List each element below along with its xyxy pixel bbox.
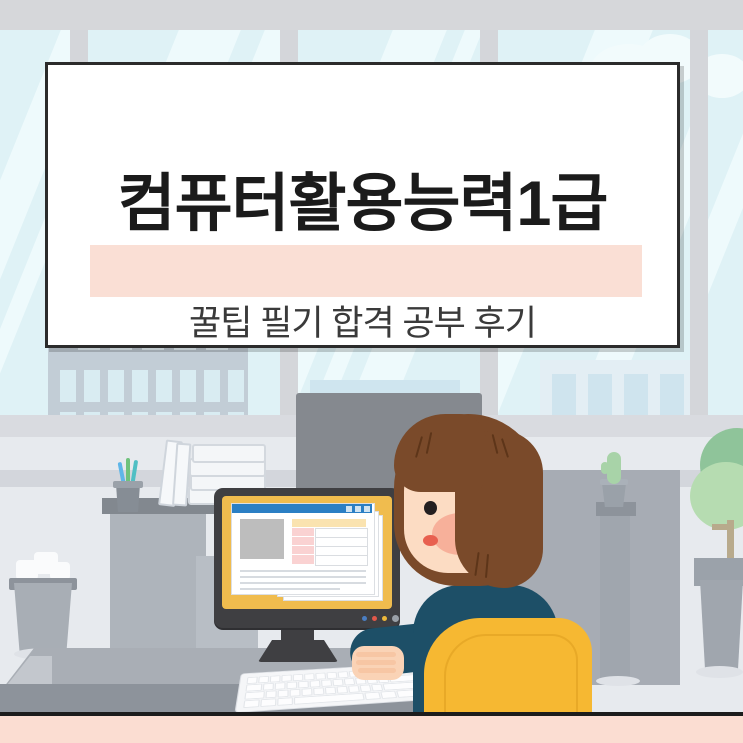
- tree-branch: [712, 524, 730, 530]
- page-title: 컴퓨터활용능력1급: [48, 173, 677, 236]
- person-finger: [356, 660, 396, 665]
- page-subtitle: 꿀팁 필기 합격 공부 후기: [48, 295, 677, 346]
- text-line: [240, 582, 366, 584]
- minimize-icon[interactable]: [346, 506, 352, 512]
- table-row-label: [292, 546, 314, 554]
- cactus-body: [607, 452, 621, 484]
- text-line: [240, 588, 340, 590]
- person-finger: [358, 668, 396, 673]
- trash-bin: [14, 583, 72, 655]
- image-placeholder: [240, 519, 284, 559]
- table-row-label: [292, 528, 314, 536]
- table-row-label: [292, 537, 314, 545]
- power-dot-yellow: [382, 616, 387, 621]
- office-scene: 컴퓨터활용능력1급 꿀팁 필기 합격 공부 후기: [0, 0, 743, 743]
- cactus-arm: [601, 462, 609, 474]
- bottom-accent-band: [0, 716, 743, 743]
- title-highlight-bar: [90, 245, 642, 297]
- person-mouth: [423, 535, 438, 546]
- monitor-neck: [281, 625, 314, 647]
- book-stack-item: [192, 444, 266, 463]
- cactus-pot: [602, 483, 626, 507]
- table-row-label: [292, 555, 314, 564]
- power-dot-red: [372, 616, 377, 621]
- person-finger: [356, 652, 396, 657]
- text-line: [240, 570, 366, 572]
- table-header-row: [292, 519, 366, 527]
- tree-pot: [700, 580, 743, 672]
- window-pane: [708, 30, 743, 415]
- ceiling-band: [0, 0, 743, 30]
- cloud-shape: [708, 54, 743, 98]
- pen-cup-rim: [113, 481, 143, 488]
- pedestal: [600, 510, 630, 682]
- power-dot-blue: [362, 616, 367, 621]
- window-mullion: [690, 30, 708, 415]
- close-icon[interactable]: [364, 506, 370, 512]
- pen-cup: [116, 484, 140, 512]
- title-card: 컴퓨터활용능력1급 꿀팁 필기 합격 공부 후기: [45, 62, 680, 348]
- power-dot-gray: [392, 615, 399, 622]
- maximize-icon[interactable]: [355, 506, 361, 512]
- person-eye: [424, 501, 437, 515]
- table-cell: [315, 555, 368, 566]
- text-line: [240, 576, 366, 578]
